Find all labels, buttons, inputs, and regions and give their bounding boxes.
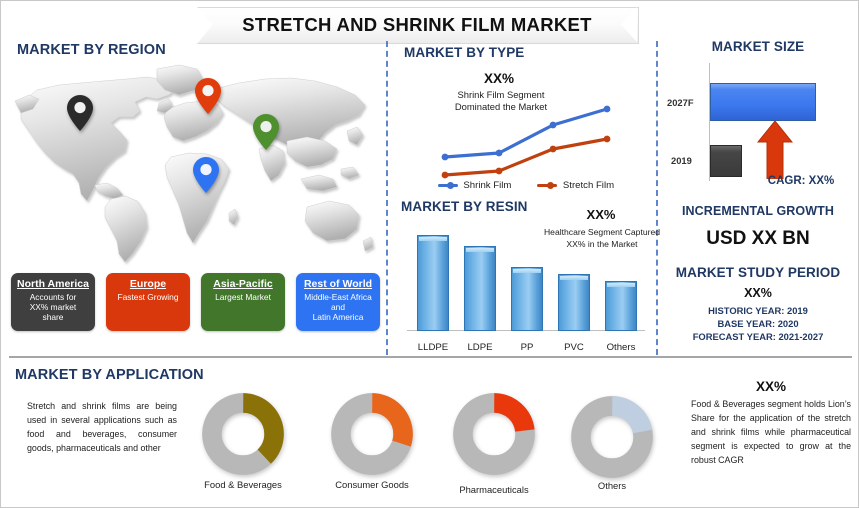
bar-highlight [419, 237, 447, 241]
region-card-sub: Largest Market [203, 292, 283, 302]
bar-label-others: Others [594, 342, 648, 353]
bar-pp [511, 267, 543, 331]
heading-market-by-resin: MARKET BY RESIN [401, 199, 528, 214]
region-card-europe[interactable]: Europe Fastest Growing [106, 273, 190, 331]
region-card-title: North America [13, 278, 93, 290]
study-period-pct: XX% [656, 286, 859, 300]
region-card-title: Europe [108, 278, 188, 290]
donut-consumer-goods [331, 393, 413, 475]
region-card-sub: Fastest Growing [108, 292, 188, 302]
study-period-historic-year: HISTORIC YEAR: 2019 [656, 305, 859, 316]
market-size-label-2019: 2019 [671, 155, 692, 166]
region-card-rest-of-world[interactable]: Rest of World Middle-East AfricaandLatin… [296, 273, 380, 331]
incremental-growth-value: USD XX BN [656, 228, 859, 250]
region-card-title: Rest of World [298, 278, 378, 290]
application-right-paragraph: Food & Beverages segment holds Lion’s Sh… [691, 397, 851, 467]
donut-food-beverages [202, 393, 284, 475]
bar-label-ldpe: LDPE [453, 342, 507, 353]
region-card-north-america[interactable]: North America Accounts forXX% marketshar… [11, 273, 95, 331]
legend-dot-icon [547, 182, 554, 189]
study-period-base-year: BASE YEAR: 2020 [656, 318, 859, 329]
study-period-forecast-year: FORECAST YEAR: 2021-2027 [656, 331, 859, 342]
heading-market-study-period: MARKET STUDY PERIOD [656, 265, 859, 280]
region-card-asia-pacific[interactable]: Asia-Pacific Largest Market [201, 273, 285, 331]
series-stretch-film-line [445, 139, 607, 175]
market-size-label-2027f: 2027F [667, 97, 694, 108]
cagr-up-arrow-icon [757, 121, 793, 179]
bar-others [605, 281, 637, 331]
market-size-bar-2019 [710, 145, 742, 177]
donut-label-consumer-goods: Consumer Goods [302, 479, 442, 490]
world-map [7, 57, 379, 269]
chart-market-by-type [401, 63, 651, 193]
infographic-page: STRETCH AND SHRINK FILM MARKET MARKET BY… [0, 0, 859, 508]
legend-dot-icon [447, 182, 454, 189]
line-chart-svg [401, 63, 651, 193]
chart-market-size: 2027F 2019 CAGR: XX% [661, 59, 857, 187]
bar-highlight [607, 283, 635, 287]
donut-pharmaceuticals [453, 393, 535, 475]
heading-market-size: MARKET SIZE [656, 39, 859, 54]
map-pin-north-america[interactable] [67, 95, 93, 131]
application-right-pct: XX% [691, 379, 851, 394]
bar-ldpe [464, 246, 496, 331]
legend-label: Shrink Film [463, 180, 511, 191]
heading-market-by-region: MARKET BY REGION [17, 42, 166, 58]
legend-item-shrink-film[interactable]: Shrink Film [438, 180, 511, 191]
donut-label-others: Others [542, 480, 682, 491]
legend-item-stretch-film[interactable]: Stretch Film [537, 180, 614, 191]
heading-market-by-application: MARKET BY APPLICATION [15, 367, 204, 383]
bar-label-lldpe: LLDPE [406, 342, 460, 353]
region-card-sub: Middle-East AfricaandLatin America [298, 292, 378, 323]
donut-others [571, 396, 653, 478]
heading-market-by-type: MARKET BY TYPE [404, 45, 524, 60]
heading-incremental-growth: INCREMENTAL GROWTH [656, 204, 859, 218]
bar-label-pp: PP [500, 342, 554, 353]
region-card-title: Asia-Pacific [203, 278, 283, 290]
region-card-sub: Accounts forXX% marketshare [13, 292, 93, 323]
divider-vertical-left [386, 41, 388, 355]
series-shrink-film-points [442, 106, 611, 161]
bar-lldpe [417, 235, 449, 331]
bar-pvc [558, 274, 590, 331]
chart-market-by-resin: LLDPE LDPE PP PVC Others [401, 217, 651, 357]
bar-highlight [466, 248, 494, 252]
title-banner [197, 7, 639, 44]
application-paragraph: Stretch and shrink films are being used … [27, 399, 177, 455]
bar-label-pvc: PVC [547, 342, 601, 353]
series-shrink-film-line [445, 109, 607, 157]
legend-market-by-type: Shrink Film Stretch Film [401, 177, 651, 193]
legend-label: Stretch Film [563, 180, 614, 191]
map-pin-rest-of-world[interactable] [193, 157, 219, 193]
cagr-annotation: CAGR: XX% [745, 175, 857, 187]
donut-label-food-beverages: Food & Beverages [173, 479, 313, 490]
map-pin-asia-pacific[interactable] [253, 114, 279, 150]
bar-highlight [560, 276, 588, 280]
bar-highlight [513, 269, 541, 273]
market-size-bar-2027f [710, 83, 816, 121]
map-pin-europe[interactable] [195, 78, 221, 114]
